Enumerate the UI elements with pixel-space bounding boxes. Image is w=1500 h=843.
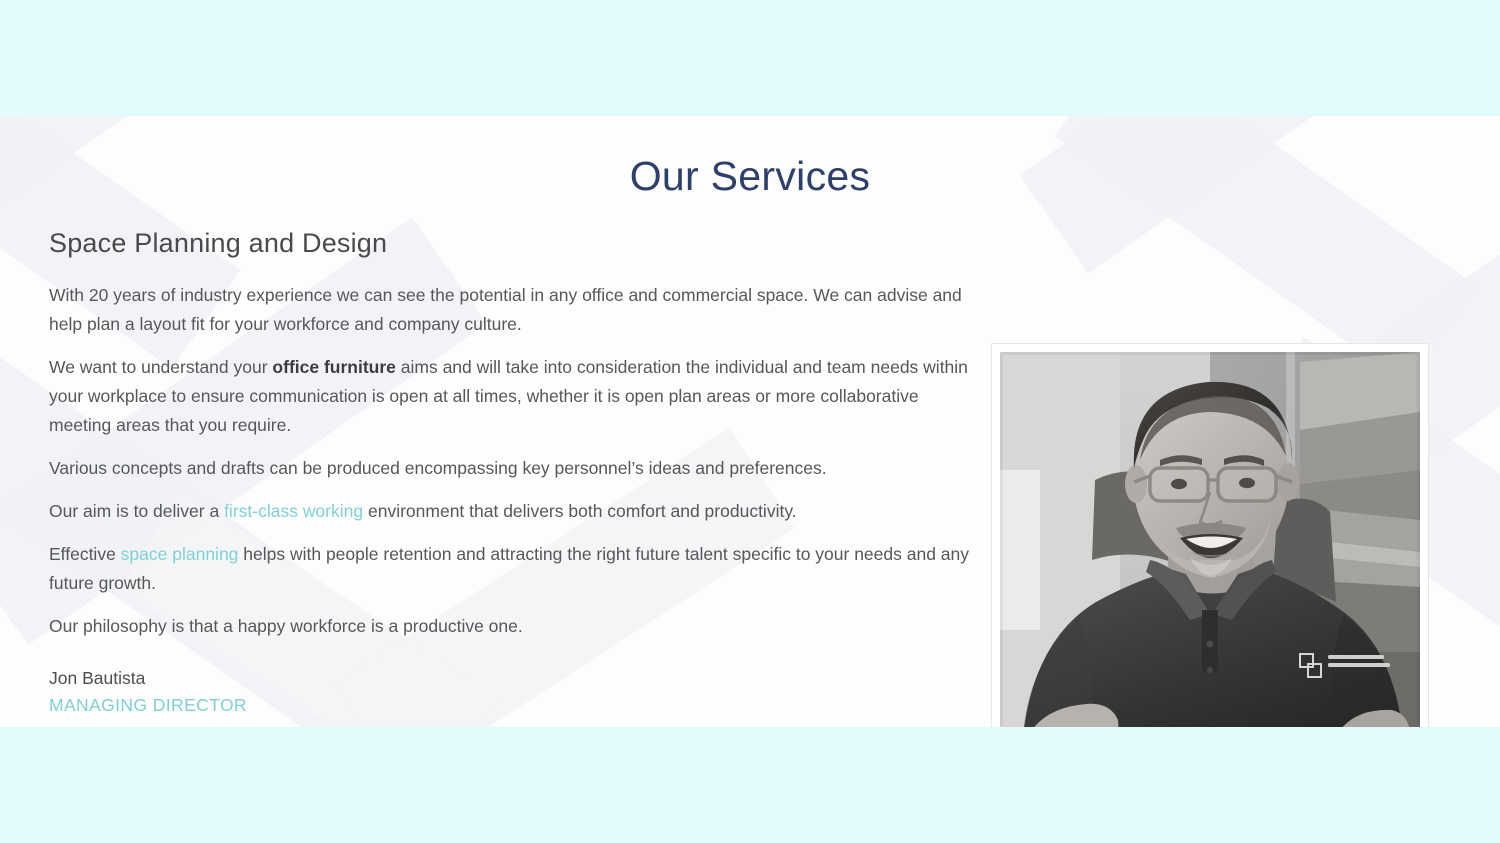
paragraph-aim-text-start: Our aim is to deliver a [49,501,224,521]
portrait-photo [1000,352,1420,727]
paragraph-aim-text-end: environment that delivers both comfort a… [363,501,797,521]
top-accent-band [0,0,1500,116]
paragraph-understanding: We want to understand your office furnit… [49,353,984,440]
space-planning-link[interactable]: space planning [121,544,239,564]
paragraph-understanding-text-start: We want to understand your [49,357,272,377]
office-furniture-emphasis: office furniture [272,357,395,377]
services-page: Our Services Space Planning and Design W… [0,0,1500,843]
signature-block: Jon Bautista MANAGING DIRECTOR [49,665,984,719]
signature-role: MANAGING DIRECTOR [49,692,984,719]
bottom-accent-band [0,727,1500,843]
signature-name: Jon Bautista [49,665,984,692]
services-section: Our Services Space Planning and Design W… [0,116,1500,727]
paragraph-effective: Effective space planning helps with peop… [49,540,984,598]
page-title: Our Services [0,153,1500,200]
paragraph-intro: With 20 years of industry experience we … [49,281,984,339]
paragraph-philosophy: Our philosophy is that a happy workforce… [49,612,984,641]
portrait-illustration-icon [1000,352,1420,727]
first-class-working-link[interactable]: first-class working [224,501,363,521]
paragraph-concepts: Various concepts and drafts can be produ… [49,454,984,483]
paragraph-effective-text-start: Effective [49,544,121,564]
services-copy: Space Planning and Design With 20 years … [49,228,984,719]
section-subtitle: Space Planning and Design [49,228,984,259]
portrait-frame [991,343,1429,727]
paragraph-aim: Our aim is to deliver a first-class work… [49,497,984,526]
